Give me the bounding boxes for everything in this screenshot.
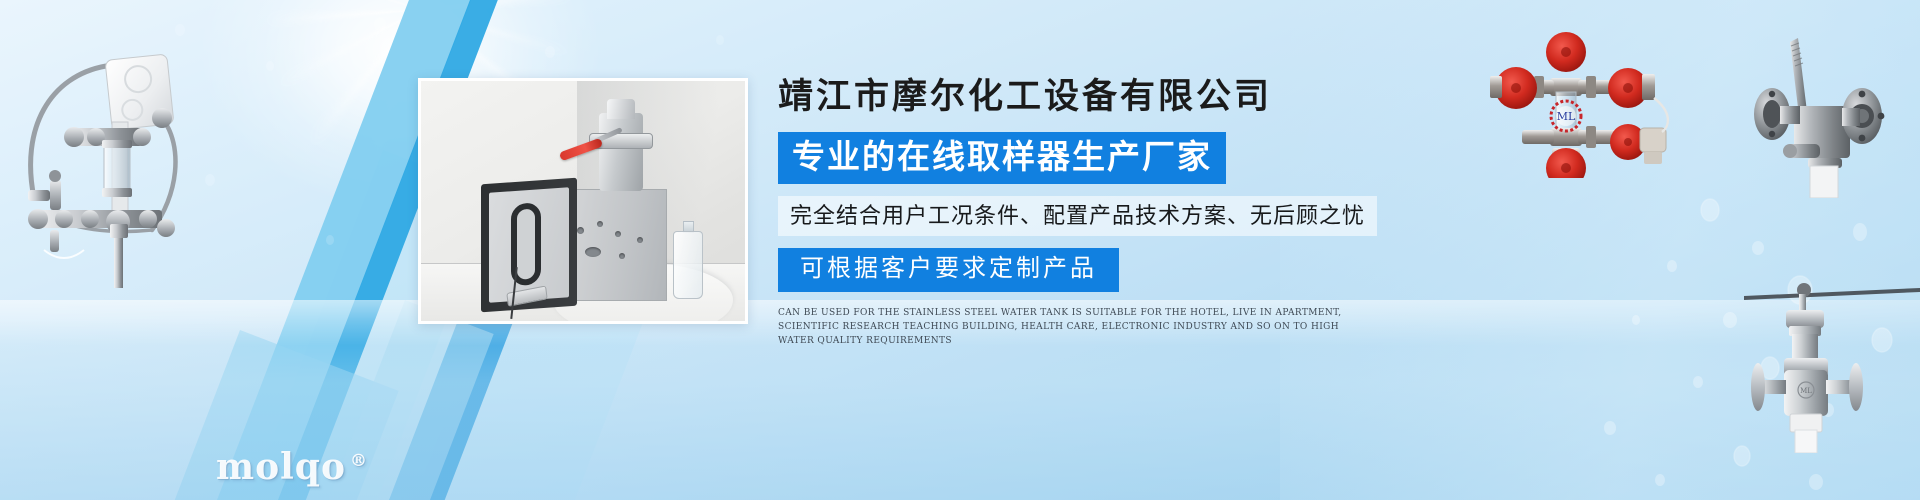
flanged-lever-valve-icon [1742, 18, 1920, 198]
svg-text:ML: ML [1557, 110, 1576, 123]
product-photo [418, 78, 748, 324]
english-description: CAN BE USED FOR THE STAINLESS STEEL WATE… [778, 306, 1378, 348]
subline-text: 完全结合用户工况条件、配置产品技术方案、无后顾之忧 [778, 196, 1377, 236]
product-photo-image [421, 81, 745, 321]
company-name: 靖江市摩尔化工设备有限公司 [778, 74, 1398, 120]
tagline-badge: 可根据客户要求定制产品 [778, 248, 1119, 292]
sampling-system-on-stand-icon [2, 18, 192, 288]
cross-valve-assembly-icon: ML [1482, 28, 1702, 178]
headline-badge: 专业的在线取样器生产厂家 [778, 132, 1226, 184]
cabinet-open-door [481, 178, 577, 313]
cabinet-vent-holes [571, 217, 667, 287]
svg-text:ML: ML [1800, 387, 1812, 395]
product-banner: ML [0, 0, 1920, 500]
flanged-sampling-valve-icon: ML [1742, 258, 1920, 453]
banner-text-block: 靖江市摩尔化工设备有限公司 专业的在线取样器生产厂家 完全结合用户工况条件、配置… [778, 74, 1398, 348]
sampler-valve-head [599, 113, 643, 191]
watermark-logo: molqo® [216, 446, 368, 488]
sample-bottle [673, 231, 703, 299]
watermark-text: molqo [216, 446, 346, 488]
registered-mark-icon: ® [350, 451, 368, 471]
